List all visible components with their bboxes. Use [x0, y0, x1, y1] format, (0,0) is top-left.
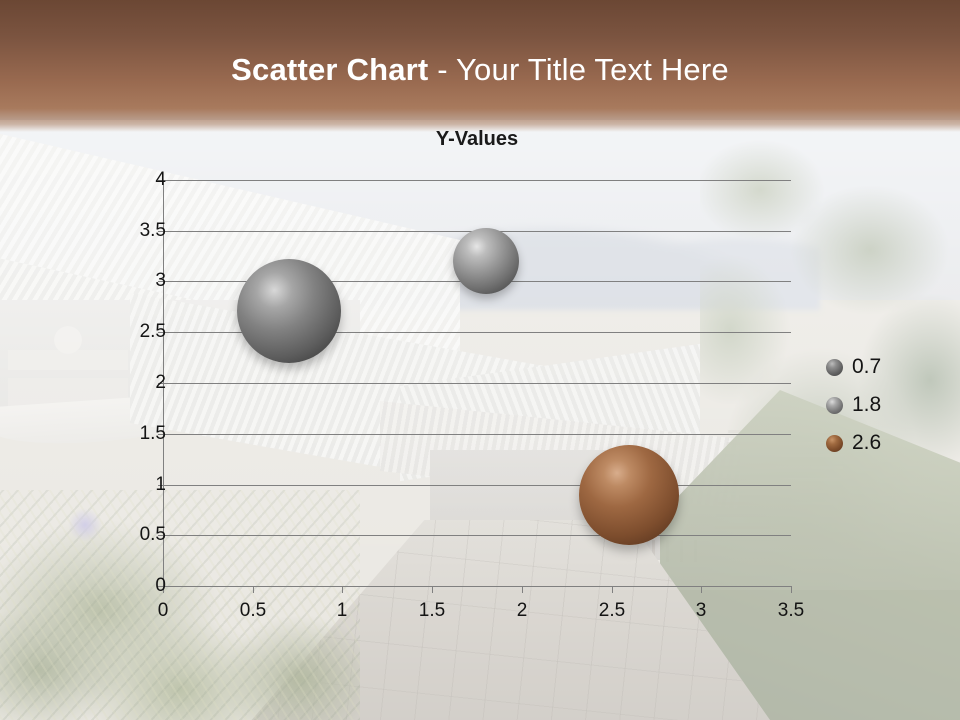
- gridline-0-5: [163, 535, 791, 536]
- data-point-1[interactable]: [453, 228, 519, 294]
- x-tick-2: [522, 586, 523, 593]
- x-axis-label-2: 2: [487, 600, 557, 622]
- legend-sphere-icon: [826, 397, 843, 414]
- y-axis-label-1-5: 1.5: [106, 423, 166, 445]
- legend-label-1: 1.8: [852, 393, 881, 417]
- x-axis-label-1-5: 1.5: [397, 600, 467, 622]
- x-tick-1-5: [432, 586, 433, 593]
- data-point-2[interactable]: [579, 445, 679, 545]
- legend-sphere-icon: [826, 359, 843, 376]
- x-tick-0-5: [253, 586, 254, 593]
- x-axis-label-3-5: 3.5: [756, 600, 826, 622]
- x-axis-line: [163, 586, 792, 587]
- scatter-chart: Y-Values: [0, 0, 960, 720]
- x-axis-label-1: 1: [307, 600, 377, 622]
- chart-legend: 0.7 1.8 2.6: [826, 348, 956, 462]
- y-axis-label-3-5: 3.5: [106, 220, 166, 242]
- y-axis-label-2-5: 2.5: [106, 321, 166, 343]
- legend-sphere-icon: [826, 435, 843, 452]
- legend-label-0: 0.7: [852, 355, 881, 379]
- gridline-1: [163, 485, 791, 486]
- legend-item-2[interactable]: 2.6: [826, 424, 956, 462]
- gridline-2: [163, 383, 791, 384]
- x-tick-3-5: [791, 586, 792, 593]
- chart-title: Y-Values: [163, 128, 791, 151]
- y-axis-label-3: 3: [106, 270, 166, 292]
- x-axis-label-0-5: 0.5: [218, 600, 288, 622]
- gridline-4: [163, 180, 791, 181]
- y-axis-label-4: 4: [106, 169, 166, 191]
- x-tick-1: [342, 586, 343, 593]
- x-axis-label-2-5: 2.5: [577, 600, 647, 622]
- x-tick-2-5: [612, 586, 613, 593]
- y-axis-label-0: 0: [106, 575, 166, 597]
- y-axis-label-2: 2: [106, 372, 166, 394]
- plot-area: [163, 180, 791, 586]
- x-axis-label-0: 0: [128, 600, 198, 622]
- data-point-0[interactable]: [237, 259, 341, 363]
- slide-canvas: Scatter Chart - Your Title Text Here Y-V…: [0, 0, 960, 720]
- legend-item-0[interactable]: 0.7: [826, 348, 956, 386]
- x-tick-3: [701, 586, 702, 593]
- legend-label-2: 2.6: [852, 431, 881, 455]
- y-axis-label-0-5: 0.5: [106, 524, 166, 546]
- legend-item-1[interactable]: 1.8: [826, 386, 956, 424]
- gridline-1-5: [163, 434, 791, 435]
- x-axis-label-3: 3: [666, 600, 736, 622]
- y-axis-label-1: 1: [106, 474, 166, 496]
